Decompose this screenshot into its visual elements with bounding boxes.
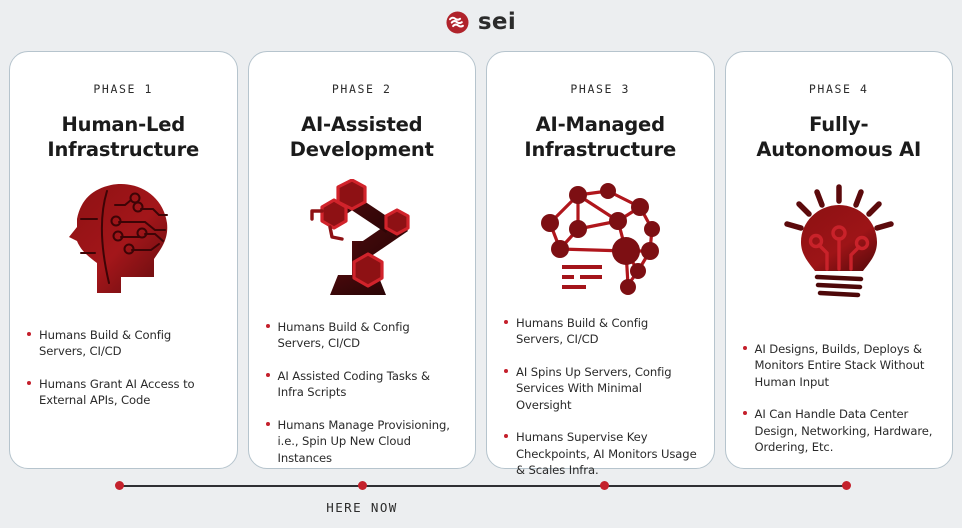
list-item: Humans Build & Config Servers, CI/CD <box>26 327 221 360</box>
brand-name: sei <box>478 11 516 34</box>
phase-label: PHASE 4 <box>809 82 869 96</box>
lightbulb-circuit-icon <box>742 179 937 301</box>
timeline-dot-phase-4[interactable] <box>842 481 851 490</box>
list-item: Humans Supervise Key Checkpoints, AI Mon… <box>503 429 698 478</box>
list-item: AI Designs, Builds, Deploys & Monitors E… <box>742 341 937 390</box>
phase-label: PHASE 1 <box>93 82 153 96</box>
phase-card-3[interactable]: PHASE 3 AI-Managed Infrastructure <box>486 51 715 469</box>
phase-card-1[interactable]: PHASE 1 Human-Led Infrastructure <box>9 51 238 469</box>
human-head-circuit-icon <box>26 179 221 301</box>
robotic-arm-icon <box>265 179 460 297</box>
list-item: AI Spins Up Servers, Config Services Wit… <box>503 364 698 413</box>
list-item: Humans Build & Config Servers, CI/CD <box>503 315 698 348</box>
phase-bullet-list: Humans Build & Config Servers, CI/CD Hum… <box>26 327 221 409</box>
sei-logo-icon <box>446 11 469 34</box>
list-item: AI Can Handle Data Center Design, Networ… <box>742 406 937 455</box>
phase-bullet-list: Humans Build & Config Servers, CI/CD AI … <box>265 319 460 466</box>
phase-bullet-list: AI Designs, Builds, Deploys & Monitors E… <box>742 341 937 456</box>
list-item: AI Assisted Coding Tasks & Infra Scripts <box>265 368 460 401</box>
list-item: Humans Grant AI Access to External APIs,… <box>26 376 221 409</box>
timeline-dot-phase-1[interactable] <box>115 481 124 490</box>
brand-header: sei <box>0 0 962 44</box>
phase-cards-row: PHASE 1 Human-Led Infrastructure <box>9 51 953 469</box>
phase-card-4[interactable]: PHASE 4 Fully-Autonomous AI <box>725 51 954 469</box>
list-item: Humans Manage Provisioning, i.e., Spin U… <box>265 417 460 466</box>
timeline-here-now-label: HERE NOW <box>326 500 397 515</box>
phase-card-2[interactable]: PHASE 2 AI-Assisted Development <box>248 51 477 469</box>
phase-title: Human-Led Infrastructure <box>26 113 221 165</box>
phase-title: Fully-Autonomous AI <box>742 113 937 165</box>
list-item: Humans Build & Config Servers, CI/CD <box>265 319 460 352</box>
timeline-track <box>119 485 846 487</box>
neural-network-brain-icon <box>503 179 698 297</box>
timeline-dot-phase-3[interactable] <box>600 481 609 490</box>
timeline-dot-phase-2[interactable] <box>358 481 367 490</box>
phase-title: AI-Assisted Development <box>265 113 460 165</box>
phase-bullet-list: Humans Build & Config Servers, CI/CD AI … <box>503 315 698 479</box>
phase-label: PHASE 2 <box>332 82 392 96</box>
phase-label: PHASE 3 <box>570 82 630 96</box>
phase-timeline: HERE NOW <box>0 474 962 528</box>
phase-title: AI-Managed Infrastructure <box>503 113 698 165</box>
